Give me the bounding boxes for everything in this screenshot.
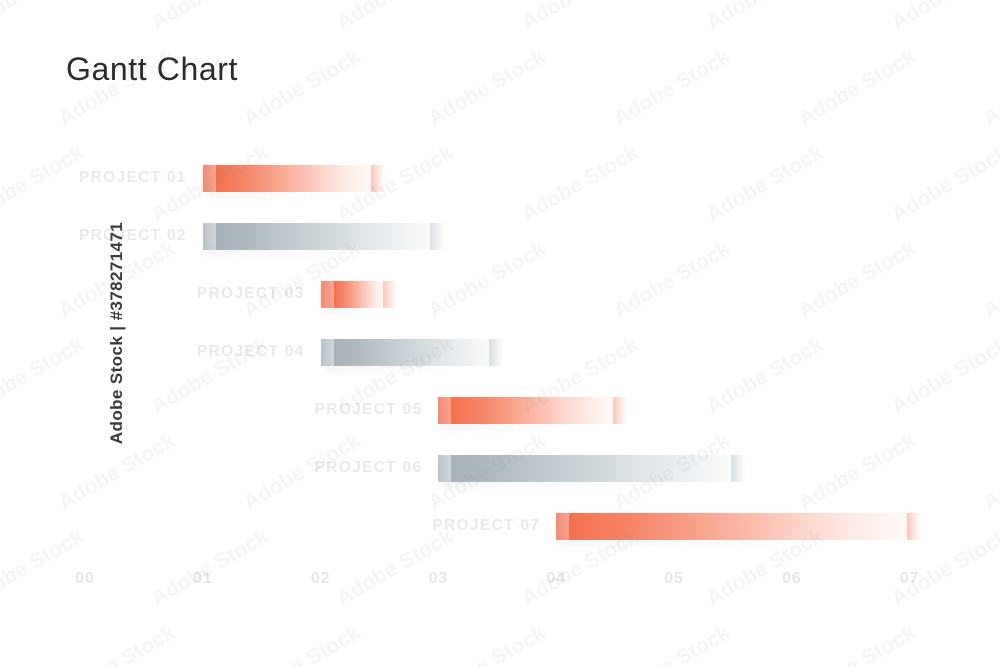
gantt-row: PROJECT 05	[0, 388, 1000, 432]
gantt-bar-body	[451, 455, 730, 482]
gantt-row: PROJECT 03	[0, 272, 1000, 316]
gantt-bar-body	[451, 397, 612, 424]
gantt-row: PROJECT 02	[0, 214, 1000, 258]
gantt-row-label: PROJECT 05	[0, 388, 422, 432]
gantt-row: PROJECT 01	[0, 156, 1000, 200]
gantt-bar-body	[569, 513, 907, 540]
gantt-row: PROJECT 04	[0, 330, 1000, 374]
gantt-bar[interactable]	[203, 223, 444, 250]
gantt-bar-body	[334, 339, 490, 366]
gantt-bar-start-cap	[321, 281, 334, 308]
gantt-bar-start-cap	[438, 455, 451, 482]
gantt-row-label: PROJECT 03	[0, 272, 305, 316]
gantt-plot-area: PROJECT 01PROJECT 02PROJECT 03PROJECT 04…	[0, 0, 1000, 667]
gantt-bar[interactable]	[556, 513, 921, 540]
gantt-row-label: PROJECT 01	[0, 156, 187, 200]
gantt-bar[interactable]	[438, 455, 744, 482]
x-axis-tick: 04	[546, 570, 565, 588]
gantt-bar-end-cap	[613, 397, 627, 424]
gantt-bar-start-cap	[556, 513, 569, 540]
gantt-bar[interactable]	[321, 281, 398, 308]
gantt-bar-start-cap	[438, 397, 451, 424]
gantt-bar-end-cap	[489, 339, 503, 366]
gantt-bar[interactable]	[203, 165, 386, 192]
gantt-bar-start-cap	[203, 165, 216, 192]
gantt-bar-end-cap	[371, 165, 385, 192]
gantt-bar-end-cap	[731, 455, 745, 482]
x-axis-tick: 06	[782, 570, 801, 588]
gantt-bar[interactable]	[321, 339, 504, 366]
gantt-row-label: PROJECT 06	[0, 446, 422, 490]
x-axis-tick: 05	[664, 570, 683, 588]
x-axis-tick: 03	[429, 570, 448, 588]
gantt-row: PROJECT 06	[0, 446, 1000, 490]
gantt-bar-end-cap	[430, 223, 444, 250]
gantt-row-label: PROJECT 02	[0, 214, 187, 258]
gantt-bar-body	[334, 281, 384, 308]
gantt-row-label: PROJECT 04	[0, 330, 305, 374]
gantt-row-label: PROJECT 07	[0, 504, 540, 548]
gantt-row: PROJECT 07	[0, 504, 1000, 548]
gantt-bar-start-cap	[203, 223, 216, 250]
x-axis-tick: 01	[193, 570, 212, 588]
x-axis-tick: 07	[900, 570, 919, 588]
x-axis: 0001020304050607	[0, 570, 1000, 600]
x-axis-tick: 02	[311, 570, 330, 588]
gantt-bar-body	[216, 223, 430, 250]
gantt-bar-start-cap	[321, 339, 334, 366]
gantt-bar-body	[216, 165, 372, 192]
x-axis-tick: 00	[75, 570, 94, 588]
gantt-bar[interactable]	[438, 397, 626, 424]
gantt-bar-end-cap	[383, 281, 397, 308]
side-watermark: Adobe Stock | #378271471	[107, 222, 127, 444]
gantt-bar-end-cap	[907, 513, 921, 540]
